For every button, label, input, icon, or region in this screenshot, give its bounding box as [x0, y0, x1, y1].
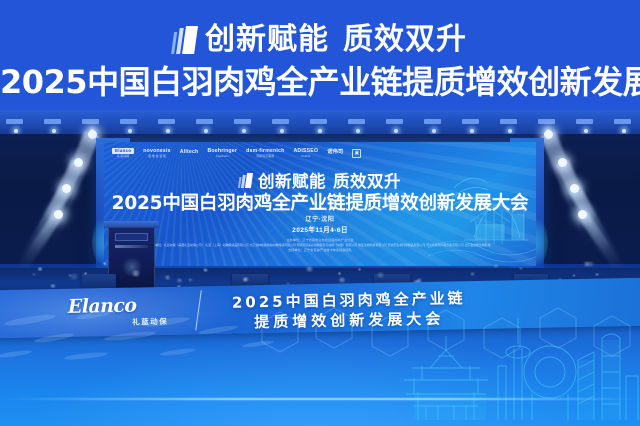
support-line: 支持单位：辽宁省畜禽产业技术体系创新团队: [116, 248, 524, 253]
stage-lamp: [62, 184, 71, 193]
floor-light-dot: [375, 272, 386, 278]
stage-lamp: [570, 184, 579, 193]
sponsor-logo-strip: Elanco礼蓝动保novonesis诺 维 信 诺 和AlltechBoehr…: [108, 147, 532, 159]
floor-light-dot: [83, 272, 88, 275]
conference-stage-photo-card: 创新赋能质效双升 2025中国白羽肉鸡全产业链提质增效创新发展大会 Elanco…: [0, 0, 640, 426]
stage-lamp: [578, 210, 587, 219]
floor-light-dot: [241, 277, 250, 282]
front-banner-line2: 提质增效创新发展大会: [254, 308, 444, 333]
sponsor-logo: Elanco礼蓝动保: [112, 148, 134, 158]
stage-lamp: [558, 158, 567, 167]
floor-light-dot: [357, 268, 362, 271]
ceiling-dash-lights: [0, 119, 640, 124]
floor-light-dot: [163, 275, 172, 280]
floor-light-dot: [492, 264, 500, 268]
sponsor-subtitle: 诺 维 信 诺 和: [148, 155, 166, 158]
sponsor-logo: ▣: [352, 149, 361, 158]
sponsor-name: ADISSEO: [293, 149, 318, 154]
floor-light-dot: [582, 261, 592, 267]
sponsor-subtitle: Ingelheim: [216, 155, 229, 158]
stage-lamp: [74, 158, 83, 167]
screen-fine-print: 主办单位：辽宁省畜牧业协会白羽肉鸡产业分会 协办单位：礼蓝动保（美国礼蓝动保公司…: [116, 238, 524, 254]
main-led-screen: Elanco礼蓝动保novonesis诺 维 信 诺 和AlltechBoehr…: [104, 142, 536, 266]
header-tagline: 创新赋能质效双升: [205, 23, 467, 57]
floor-light-dot: [594, 273, 600, 276]
sponsor-name: 诺伟司: [327, 150, 343, 155]
sponsor-logo: 诺伟司: [327, 150, 343, 155]
stage-lamp: [54, 210, 63, 219]
floor-light-dot: [130, 270, 142, 277]
floor-light-dot: [518, 267, 524, 270]
header-title: 2025中国白羽肉鸡全产业链提质增效创新发展大会: [0, 63, 640, 101]
sponsor-logo: dsm-firmenich帝斯曼芬美意: [246, 149, 284, 158]
floor-light-dot: [102, 262, 107, 265]
stage-lamp: [544, 130, 553, 139]
floor-light-dot: [572, 274, 576, 277]
sponsor-subtitle: CHINA: [301, 155, 310, 158]
floor-light-dot: [337, 272, 342, 275]
sponsor-name: dsm-firmenich: [246, 149, 284, 154]
sponsor-logo: Alltech: [180, 150, 199, 155]
screen-date: 2025年11月4-6日: [104, 224, 536, 234]
floor-light-dot: [49, 284, 57, 288]
banner-divider: [195, 290, 202, 330]
floor-light-dot: [175, 278, 184, 283]
sponsor-subtitle: 帝斯曼芬美意: [256, 155, 274, 158]
stage-photograph: Elanco礼蓝动保novonesis诺 维 信 诺 和AlltechBoehr…: [0, 110, 640, 426]
header-tagline-row: 创新赋能质效双升: [0, 23, 640, 57]
header-band: 创新赋能质效双升 2025中国白羽肉鸡全产业链提质增效创新发展大会: [0, 0, 640, 120]
decorative-bars-icon: [171, 27, 198, 54]
screen-location: 辽宁·沈阳: [104, 214, 536, 223]
sponsor-glyph-icon: ▣: [355, 151, 360, 156]
elanco-logo: Elanco 礼蓝动保: [68, 295, 169, 329]
sponsor-name: Boehringer: [207, 149, 237, 154]
horizon-glow-line: [0, 398, 640, 400]
floor-light-dot: [337, 277, 347, 283]
floor-light-dot: [304, 266, 315, 272]
screen-title: 2025中国白羽肉鸡全产业链提质增效创新发展大会: [104, 189, 536, 215]
floor-light-dot: [36, 267, 44, 271]
sponsor-logo: BoehringerIngelheim: [207, 149, 237, 158]
sponsor-logo: novonesis诺 维 信 诺 和: [143, 149, 170, 158]
floor-light-dot: [187, 278, 194, 282]
elanco-wordmark: Elanco: [68, 295, 168, 317]
floor-light-dot: [469, 272, 476, 276]
floor-light-dot: [68, 273, 80, 280]
floor-light-dot: [31, 273, 37, 276]
sponsor-name: Alltech: [180, 150, 199, 155]
sponsor-subtitle: 礼蓝动保: [117, 155, 129, 158]
floor-light-dot: [202, 268, 209, 272]
sponsor-logo: ADISSEOCHINA: [293, 149, 318, 158]
elanco-chinese-name: 礼蓝动保: [132, 316, 168, 328]
sponsor-name: novonesis: [143, 149, 170, 154]
screen-decorative-bars-icon: [238, 173, 253, 188]
